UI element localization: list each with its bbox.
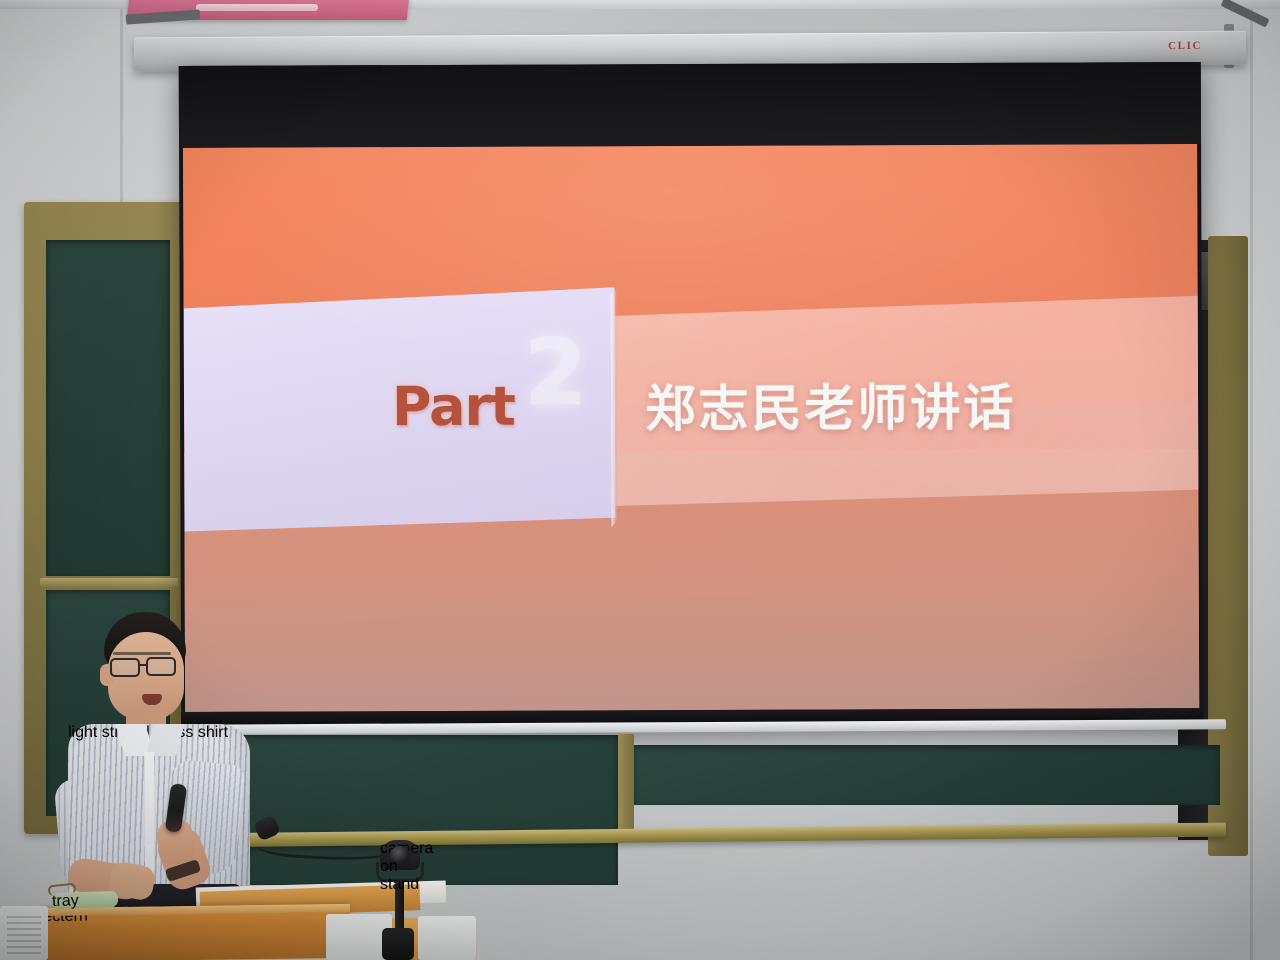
slide-part-number: 2 [523, 330, 587, 418]
equipment-box-left [0, 906, 48, 960]
projection-screen: Part 2 郑志民老师讲话 [179, 62, 1204, 726]
blackboard-left-upper [46, 240, 170, 576]
brand-logo: CLIC [1168, 40, 1202, 52]
eyeglasses-right-lens [146, 657, 176, 676]
tray: tray [52, 891, 119, 909]
blackboard-center-right [632, 745, 1220, 805]
vent-grille-icon [7, 916, 41, 954]
classroom-scene: CLIC Part 2 郑志民老师讲话 [0, 0, 1280, 960]
ceiling-light-strip [196, 4, 318, 11]
equipment-box-right [418, 916, 476, 960]
camera-stand-clamp [382, 928, 414, 960]
camera-lens-icon [390, 846, 410, 863]
slide-part-label: Part [392, 375, 515, 438]
slide-title: 郑志民老师讲话 [645, 368, 1016, 441]
blackboard-divider [618, 734, 634, 834]
presenter-brow [113, 652, 171, 655]
presentation-slide: Part 2 郑志民老师讲话 [183, 144, 1199, 712]
slide-text-group: Part 2 郑志民老师讲话 [183, 144, 1199, 712]
wall-seam-right [1250, 0, 1253, 960]
eyeglasses-bridge [139, 664, 148, 666]
blackboard-left-rail [40, 578, 178, 587]
eyeglasses-icon [110, 658, 140, 677]
screen-mask-top [179, 62, 1201, 148]
